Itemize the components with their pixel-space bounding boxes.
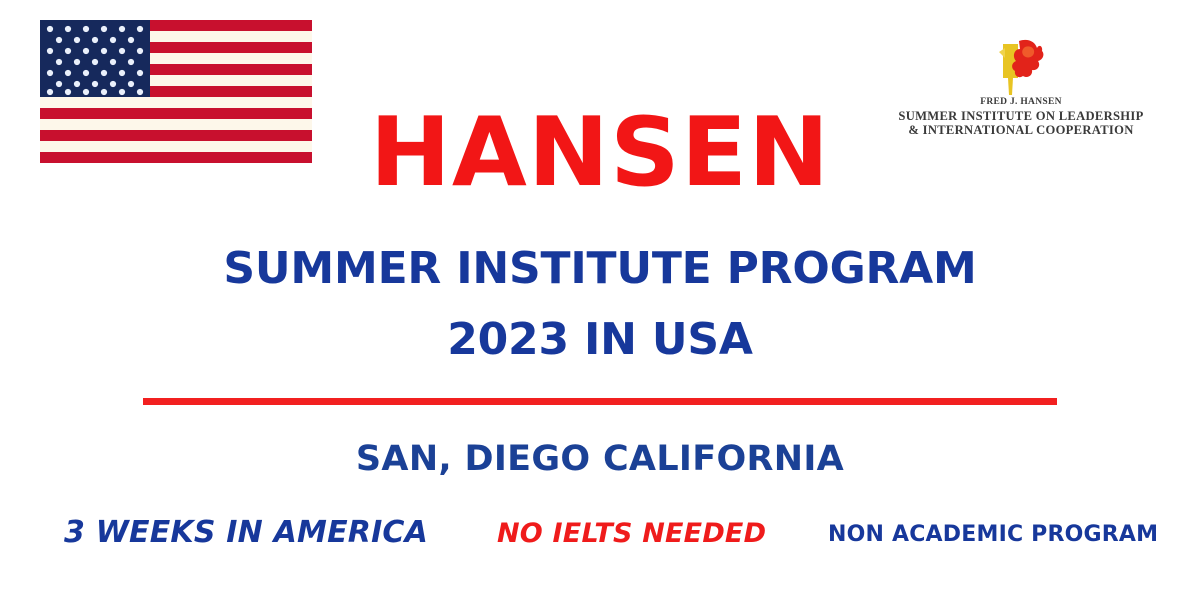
main-title: HANSEN (0, 106, 1200, 201)
red-divider-bar (143, 398, 1057, 405)
poster-canvas: FRED J. HANSEN SUMMER INSTITUTE ON LEADE… (0, 0, 1200, 600)
subtitle-program: SUMMER INSTITUTE PROGRAM (0, 247, 1200, 291)
feature-row: 3 WEEKS IN AMERICA NO IELTS NEEDED NON A… (0, 516, 1200, 560)
location-text: SAN, DIEGO CALIFORNIA (0, 442, 1200, 477)
feature-no-ielts: NO IELTS NEEDED (497, 520, 766, 547)
feature-non-academic: NON ACADEMIC PROGRAM (828, 524, 1158, 546)
subtitle-year-country: 2023 IN USA (0, 318, 1200, 362)
hansen-flame-emblem-icon (890, 34, 1152, 96)
feature-duration: 3 WEEKS IN AMERICA (64, 518, 428, 548)
